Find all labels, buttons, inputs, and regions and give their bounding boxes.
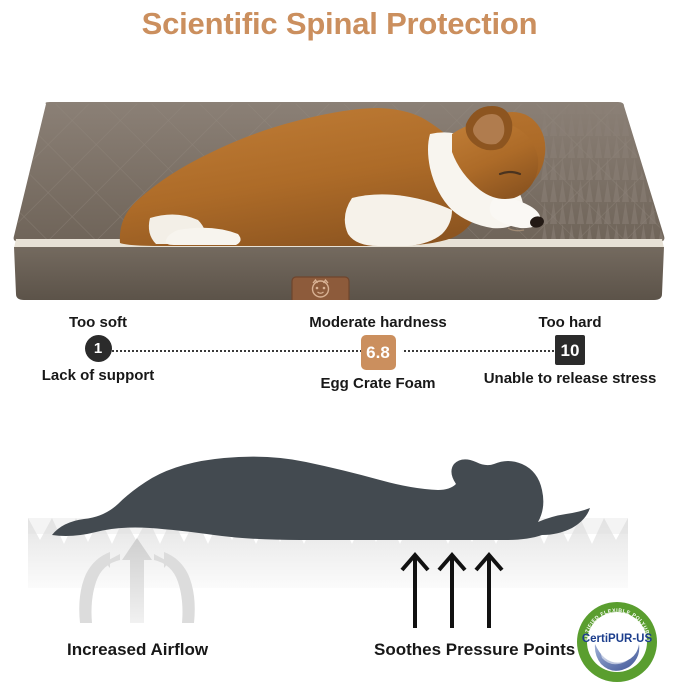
scale-top-label-moderate-hardness: Moderate hardness xyxy=(309,314,447,331)
scale-marker-moderate: Moderate hardness 6.8 Egg Crate Foam xyxy=(307,314,449,392)
hardness-scale: Too soft 1 Lack of support Moderate hard… xyxy=(0,305,679,415)
pressure-point-arrows xyxy=(402,555,502,628)
scale-bottom-label-unable-to-release-stress: Unable to release stress xyxy=(484,370,657,387)
dog-silhouette-side-view xyxy=(52,457,590,540)
pressure-arrow-3 xyxy=(476,555,502,628)
scale-marker-too-hard: Too hard 10 Unable to release stress xyxy=(510,314,630,387)
foam-cross-section-diagram xyxy=(0,418,679,628)
scale-top-label-too-hard: Too hard xyxy=(538,314,601,331)
scale-bottom-label-egg-crate-foam: Egg Crate Foam xyxy=(320,375,435,392)
scale-bottom-label-lack-of-support: Lack of support xyxy=(42,367,155,384)
certipur-us-badge: CONTAINS CERTIFIED FLEXIBLE POLYURETHANE… xyxy=(575,600,659,684)
caption-increased-airflow: Increased Airflow xyxy=(67,640,208,660)
pressure-arrow-2 xyxy=(439,555,465,628)
pressure-arrow-1 xyxy=(402,555,428,628)
scale-badge-10: 10 xyxy=(555,335,585,365)
title-bar: Scientific Spinal Protection xyxy=(0,0,679,48)
product-photo: WOOFBOOM xyxy=(0,48,679,300)
brand-tag: WOOFBOOM xyxy=(292,277,349,300)
scale-marker-too-soft: Too soft 1 Lack of support xyxy=(30,314,166,384)
scale-badge-1: 1 xyxy=(85,335,112,362)
caption-soothes-pressure-points: Soothes Pressure Points xyxy=(374,640,575,660)
page-title: Scientific Spinal Protection xyxy=(142,6,538,42)
certipur-wordmark: CertiPUR-US xyxy=(582,633,653,645)
scale-badge-6-8: 6.8 xyxy=(361,335,396,370)
scale-top-label-too-soft: Too soft xyxy=(69,314,127,331)
